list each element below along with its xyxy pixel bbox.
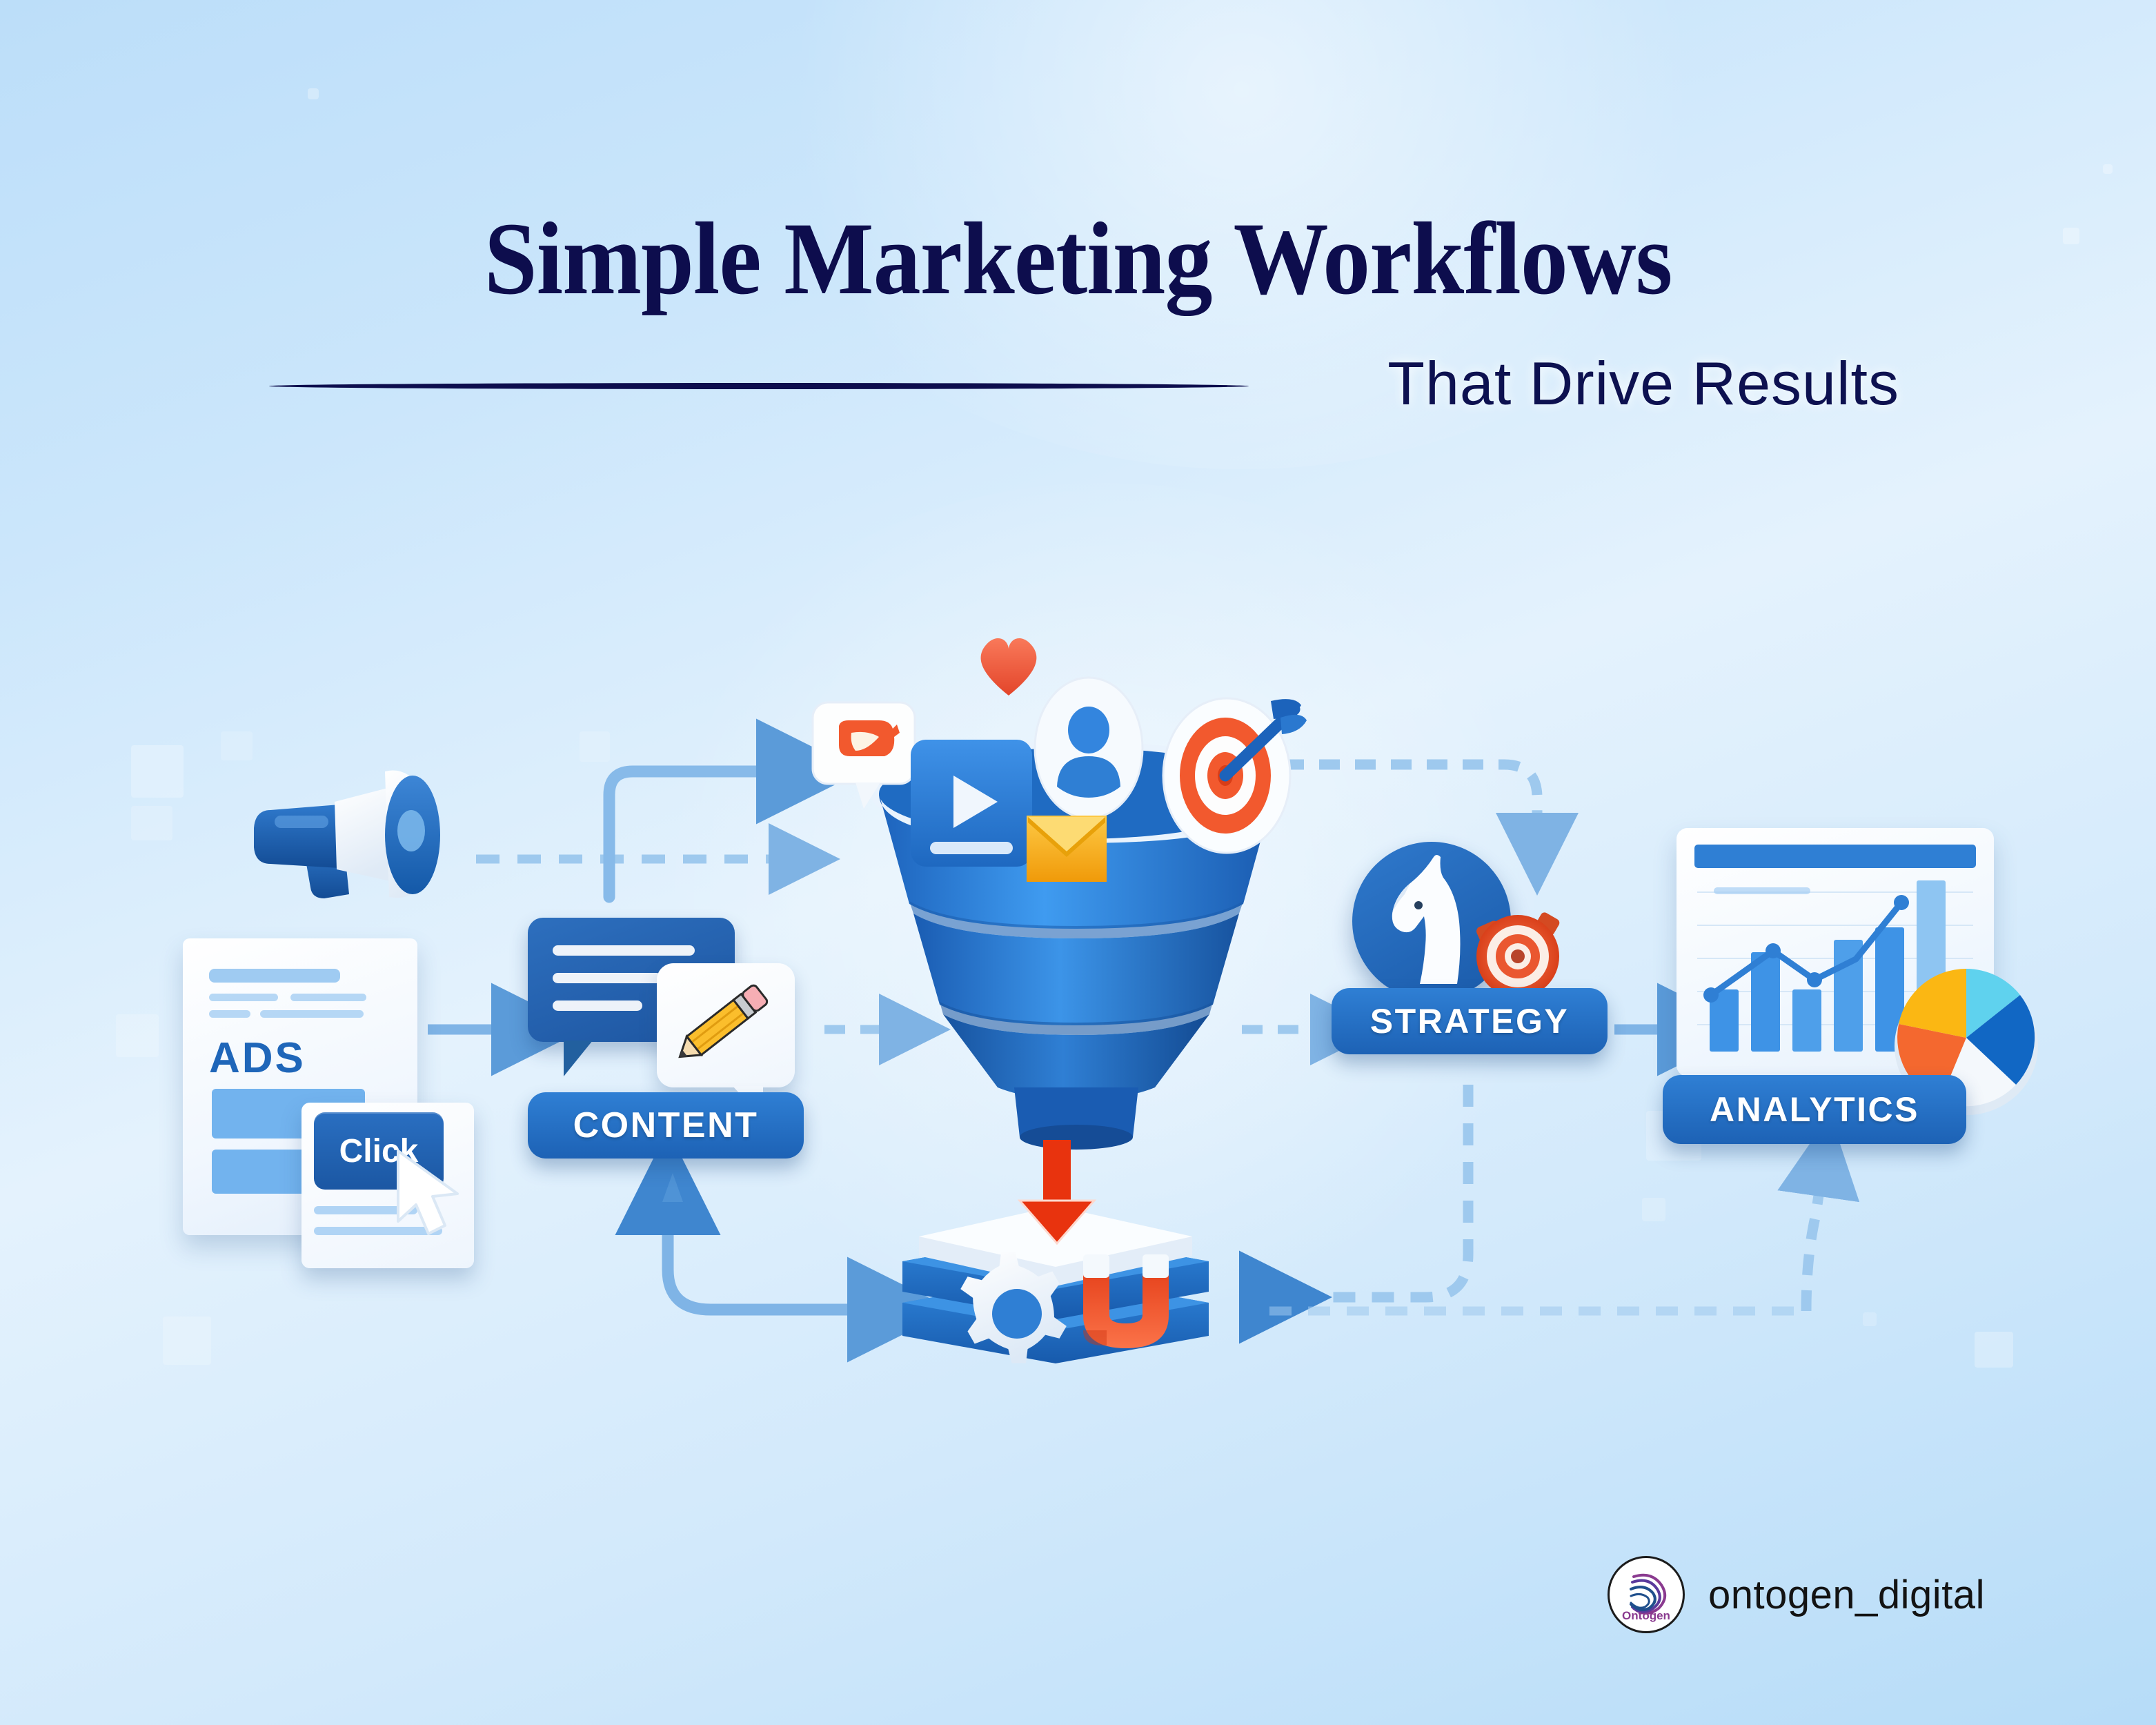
ads-card-group[interactable]: ADS Click — [176, 918, 535, 1283]
watermark: Ontogen ontogen_digital — [1608, 1556, 1985, 1633]
bg-square — [131, 806, 172, 840]
bg-square — [1863, 1312, 1877, 1326]
content-pill[interactable]: CONTENT — [528, 1092, 804, 1159]
target-arrow-icon — [1163, 698, 1307, 853]
content-group[interactable]: CONTENT — [528, 918, 818, 1187]
analytics-group[interactable]: ANALYTICS — [1663, 828, 2021, 1180]
heart-icon — [981, 638, 1037, 696]
title-divider — [269, 383, 1249, 394]
envelope-icon — [1027, 816, 1107, 882]
bg-square — [221, 731, 253, 760]
video-play-icon — [911, 740, 1032, 867]
cursor-icon — [393, 1148, 496, 1252]
bg-square — [1642, 1198, 1665, 1221]
page-title: Simple Marketing Workflows — [484, 207, 1672, 310]
user-avatar-icon — [1035, 678, 1143, 818]
automation-block — [890, 1173, 1221, 1421]
marketing-funnel — [787, 621, 1366, 1173]
arrow-analytics-feedback — [1806, 1176, 1821, 1311]
analytics-pill[interactable]: ANALYTICS — [1663, 1075, 1966, 1144]
bg-square — [131, 745, 184, 798]
analytics-label: ANALYTICS — [1710, 1090, 1919, 1130]
page-header: Simple Marketing Workflows — [0, 207, 2156, 310]
ads-label: ADS — [209, 1034, 382, 1083]
svg-text:Ontogen: Ontogen — [1622, 1609, 1670, 1622]
watermark-handle: ontogen_digital — [1708, 1572, 1985, 1618]
strategy-pill[interactable]: STRATEGY — [1332, 988, 1608, 1054]
strategy-group[interactable]: STRATEGY — [1332, 842, 1621, 1090]
bg-square — [116, 1014, 159, 1057]
strategy-label: STRATEGY — [1370, 1001, 1570, 1041]
pencil-icon — [675, 980, 778, 1063]
bg-square — [308, 88, 319, 99]
click-card[interactable]: Click — [301, 1103, 474, 1268]
line-chart-icon — [1711, 903, 1901, 995]
ontogen-logo-icon: Ontogen — [1608, 1556, 1685, 1633]
megaphone-icon — [228, 759, 504, 938]
bg-square — [163, 1317, 211, 1365]
bg-square — [2103, 164, 2113, 174]
content-label: CONTENT — [573, 1105, 759, 1146]
bg-square — [580, 731, 610, 762]
bg-square — [1975, 1332, 2013, 1368]
pencil-bubble-icon — [657, 963, 795, 1087]
page-subtitle: That Drive Results — [1387, 348, 1899, 419]
